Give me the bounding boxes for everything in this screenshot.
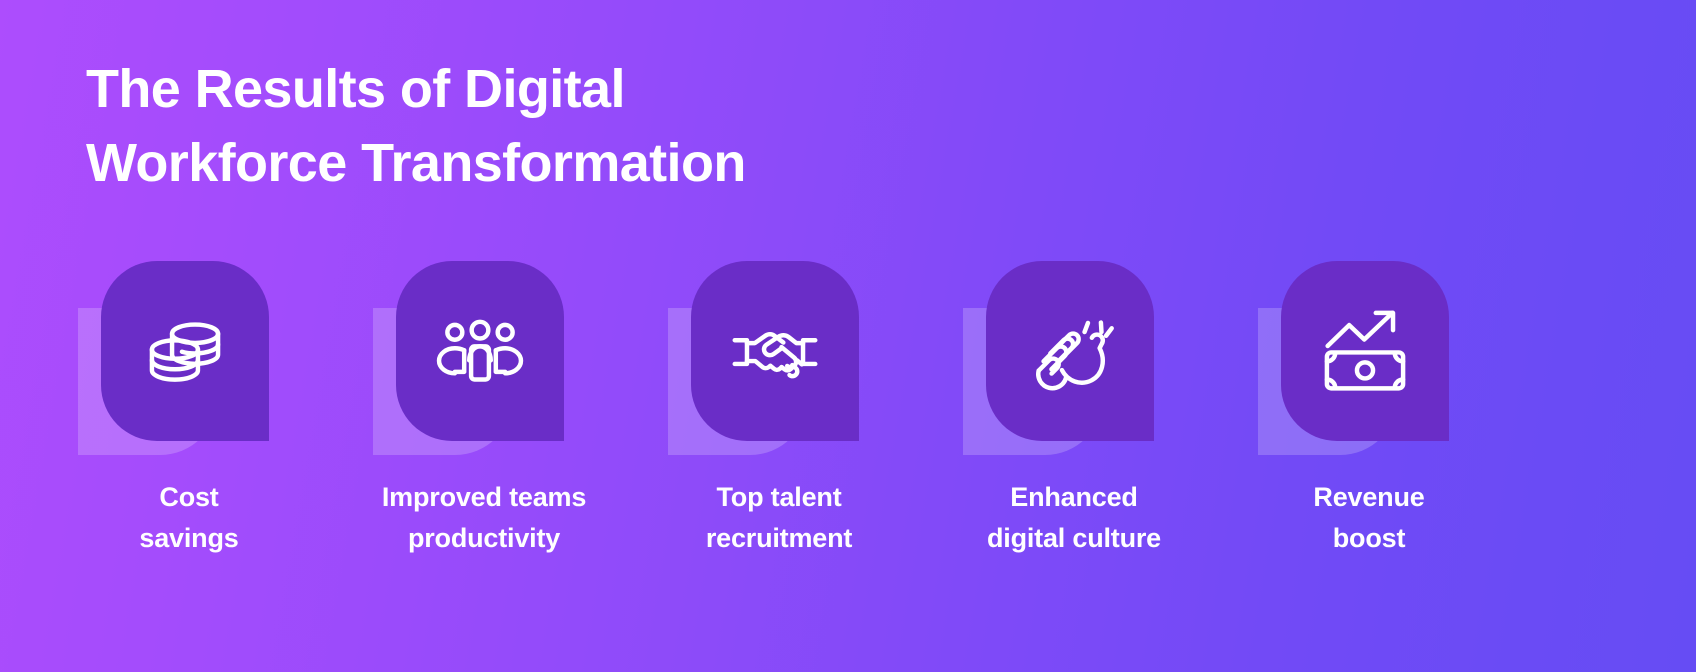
title-block: The Results of Digital Workforce Transfo… — [86, 52, 986, 200]
three-people-icon — [434, 305, 526, 397]
result-card-improved-teams-productivity: Improved teams productivity — [373, 255, 668, 595]
icon-tile — [691, 261, 859, 441]
clapping-hands-icon — [1024, 305, 1116, 397]
result-card-enhanced-digital-culture: Enhanced digital culture — [963, 255, 1258, 595]
icon-stack — [1258, 255, 1498, 465]
result-card-label: Revenue boost — [1258, 477, 1480, 559]
handshake-icon — [729, 305, 821, 397]
banknote-growth-arrow-icon — [1319, 305, 1411, 397]
result-card-cost-savings: Cost savings — [78, 255, 373, 595]
icon-stack — [373, 255, 613, 465]
icon-tile — [1281, 261, 1449, 441]
result-card-label: Enhanced digital culture — [963, 477, 1185, 559]
icon-stack — [963, 255, 1203, 465]
results-card-row: Cost savings — [0, 255, 1696, 595]
result-card-label: Top talent recruitment — [668, 477, 890, 559]
digital-workforce-results-banner: The Results of Digital Workforce Transfo… — [0, 0, 1696, 672]
page-title: The Results of Digital Workforce Transfo… — [86, 52, 986, 200]
icon-tile — [986, 261, 1154, 441]
icon-tile — [396, 261, 564, 441]
icon-stack — [668, 255, 908, 465]
result-card-label: Cost savings — [78, 477, 300, 559]
result-card-top-talent-recruitment: Top talent recruitment — [668, 255, 963, 595]
stacked-coins-icon — [139, 305, 231, 397]
result-card-label: Improved teams productivity — [373, 477, 595, 559]
icon-stack — [78, 255, 318, 465]
result-card-revenue-boost: Revenue boost — [1258, 255, 1553, 595]
icon-tile — [101, 261, 269, 441]
